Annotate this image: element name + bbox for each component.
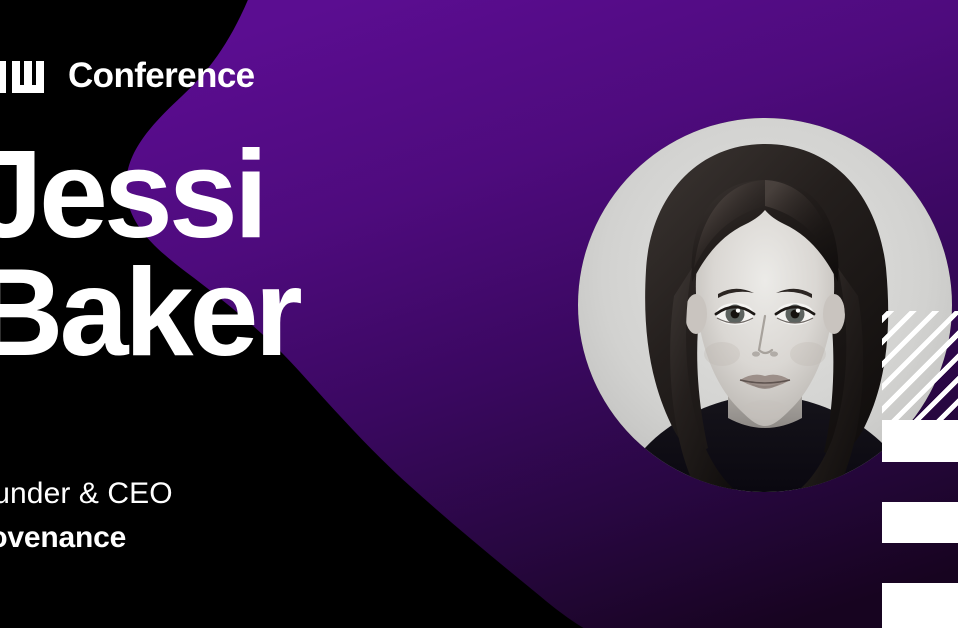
aw-logo-mark-icon [0,59,54,93]
speaker-last-name: Baker [0,255,299,373]
speaker-meta: Founder & CEO Provenance [0,472,173,559]
speaker-role: Founder & CEO [0,472,173,516]
bar-item [882,502,958,543]
brand-lockup: Conference [0,58,255,93]
horizontal-bars-decor [882,420,958,628]
speaker-first-name: Jessi [0,137,299,255]
speaker-company: Provenance [0,516,173,560]
speaker-name: Jessi Baker [0,137,299,373]
speaker-card: Conference Jessi Baker Founder & CEO Pro… [0,0,958,628]
brand-wordmark: Conference [68,58,255,93]
bar-item [882,420,958,462]
bar-item [882,583,958,628]
